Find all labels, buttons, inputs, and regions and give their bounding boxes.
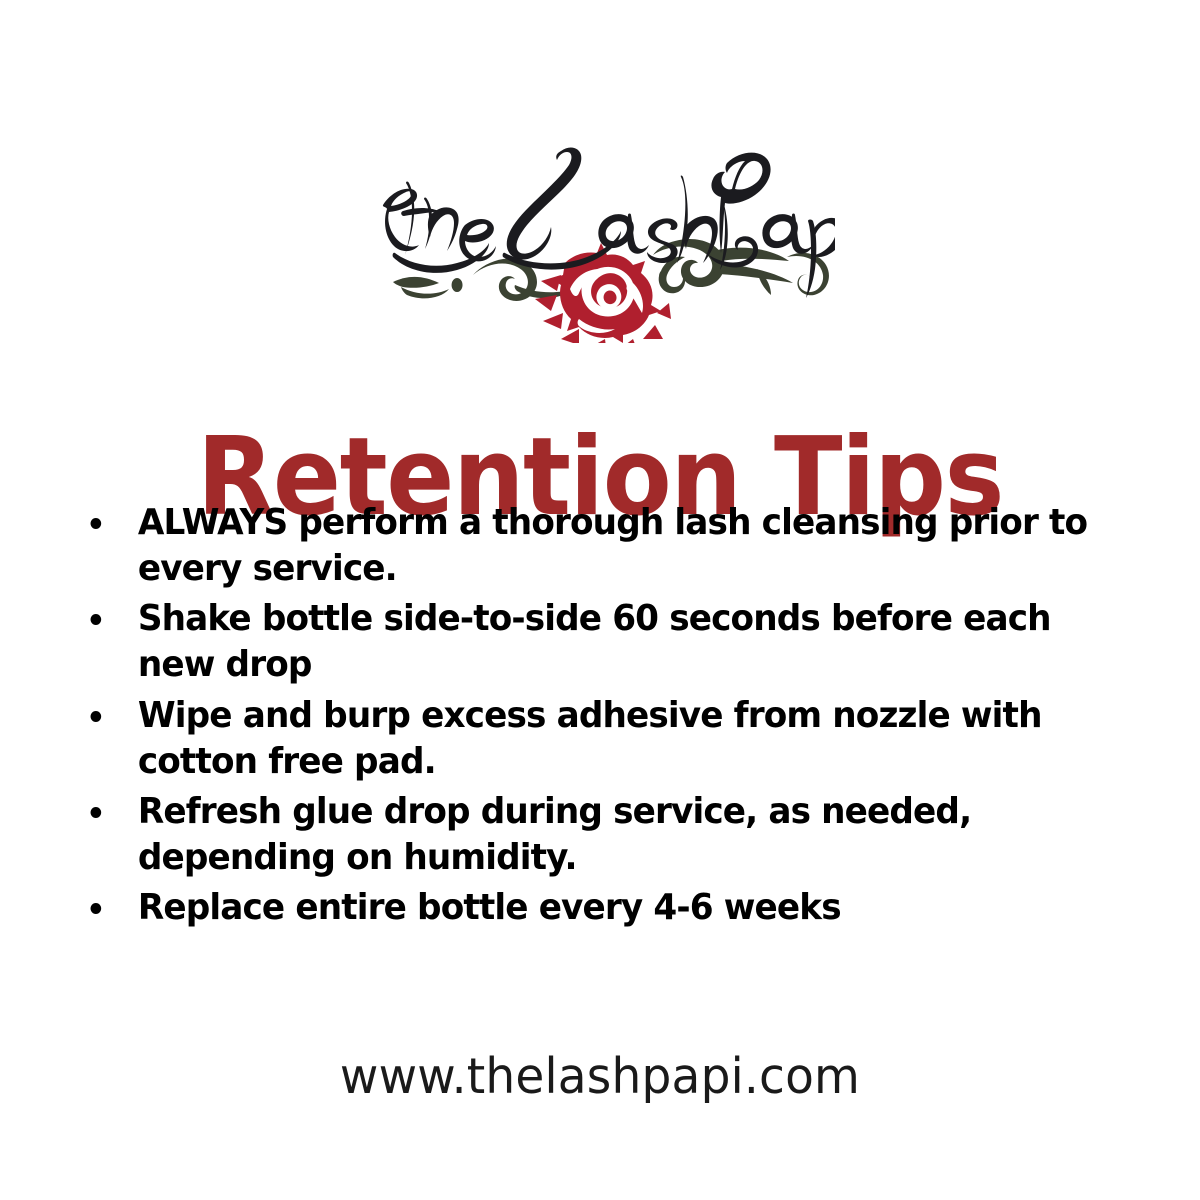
bullet-icon: [91, 711, 102, 722]
brand-logo: [0, 140, 1200, 345]
bullet-icon: [91, 614, 102, 625]
list-item: Refresh glue drop during service, as nee…: [78, 789, 1101, 881]
list-item: ALWAYS perform a thorough lash cleansing…: [78, 500, 1101, 592]
bullet-icon: [91, 518, 102, 529]
flourish-right-icon: [653, 239, 829, 295]
retention-tips-list: ALWAYS perform a thorough lash cleansing…: [78, 500, 1138, 935]
bullet-icon: [91, 807, 102, 818]
poster-canvas: Retention Tips ALWAYS perform a thorough…: [0, 0, 1200, 1200]
lash-papi-logo-svg: [365, 143, 835, 343]
list-item-text: Refresh glue drop during service, as nee…: [138, 791, 971, 878]
list-item: Shake bottle side-to-side 60 seconds bef…: [78, 596, 1101, 688]
list-item: Replace entire bottle every 4-6 weeks: [78, 885, 1101, 931]
list-item-text: Replace entire bottle every 4-6 weeks: [138, 887, 841, 928]
list-item: Wipe and burp excess adhesive from nozzl…: [78, 693, 1101, 785]
website-url: www.thelashpapi.com: [24, 1048, 1176, 1105]
list-item-text: ALWAYS perform a thorough lash cleansing…: [138, 502, 1087, 589]
bullet-icon: [91, 903, 102, 914]
list-item-text: Wipe and burp excess adhesive from nozzl…: [138, 695, 1042, 782]
list-item-text: Shake bottle side-to-side 60 seconds bef…: [138, 598, 1051, 685]
